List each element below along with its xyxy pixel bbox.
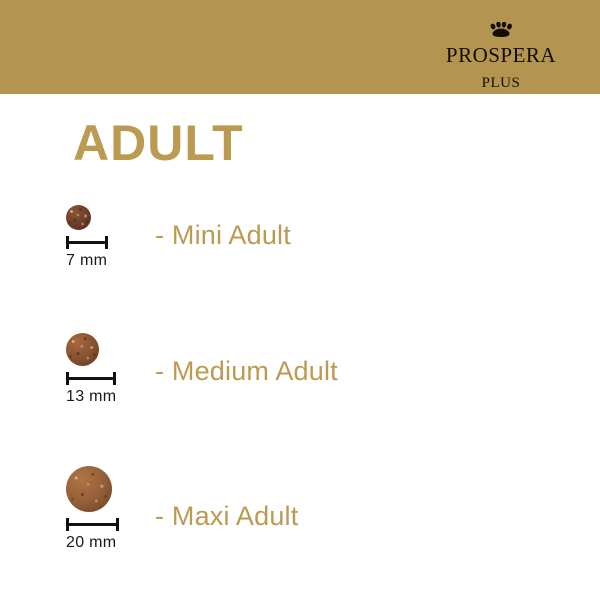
kibble-shape <box>66 205 91 230</box>
measure-bar-line <box>69 377 113 380</box>
brand-name: Prospera <box>416 38 586 67</box>
measure-bar-maxi <box>66 518 119 529</box>
size-label-maxi: 20 mm <box>66 534 119 552</box>
kibble-spec-maxi: 20 mm <box>66 466 119 552</box>
kibble-name-medium: - Medium Adult <box>155 356 338 387</box>
kibble-medium-icon <box>66 333 116 366</box>
kibble-spec-mini: 7 mm <box>66 205 108 270</box>
measure-bar-line <box>69 523 116 526</box>
brand-logo: Prospera Plus <box>416 22 586 91</box>
page-title: ADULT <box>73 118 244 168</box>
measure-bar-cap-right <box>105 236 108 249</box>
measure-bar-cap-left <box>66 372 69 385</box>
measure-bar-mini <box>66 236 108 247</box>
size-label-medium: 13 mm <box>66 388 116 406</box>
kibble-name-maxi: - Maxi Adult <box>155 501 298 532</box>
measure-bar-cap-left <box>66 236 69 249</box>
brand-subtitle: Plus <box>416 68 586 91</box>
kibble-maxi-icon <box>66 466 119 512</box>
measure-bar-cap-right <box>113 372 116 385</box>
paw-print-icon <box>488 22 514 37</box>
product-size-infographic: Prospera Plus ADULT 7 mm - Mini Adult <box>0 0 600 600</box>
kibble-name-mini: - Mini Adult <box>155 220 291 251</box>
measure-bar-line <box>69 241 105 244</box>
kibble-mini-icon <box>66 205 108 230</box>
kibble-spec-medium: 13 mm <box>66 333 116 406</box>
kibble-shape <box>66 466 112 512</box>
size-label-mini: 7 mm <box>66 252 108 270</box>
kibble-shape <box>66 333 99 366</box>
measure-bar-medium <box>66 372 116 383</box>
measure-bar-cap-right <box>116 518 119 531</box>
measure-bar-cap-left <box>66 518 69 531</box>
header-band: Prospera Plus <box>0 0 600 94</box>
